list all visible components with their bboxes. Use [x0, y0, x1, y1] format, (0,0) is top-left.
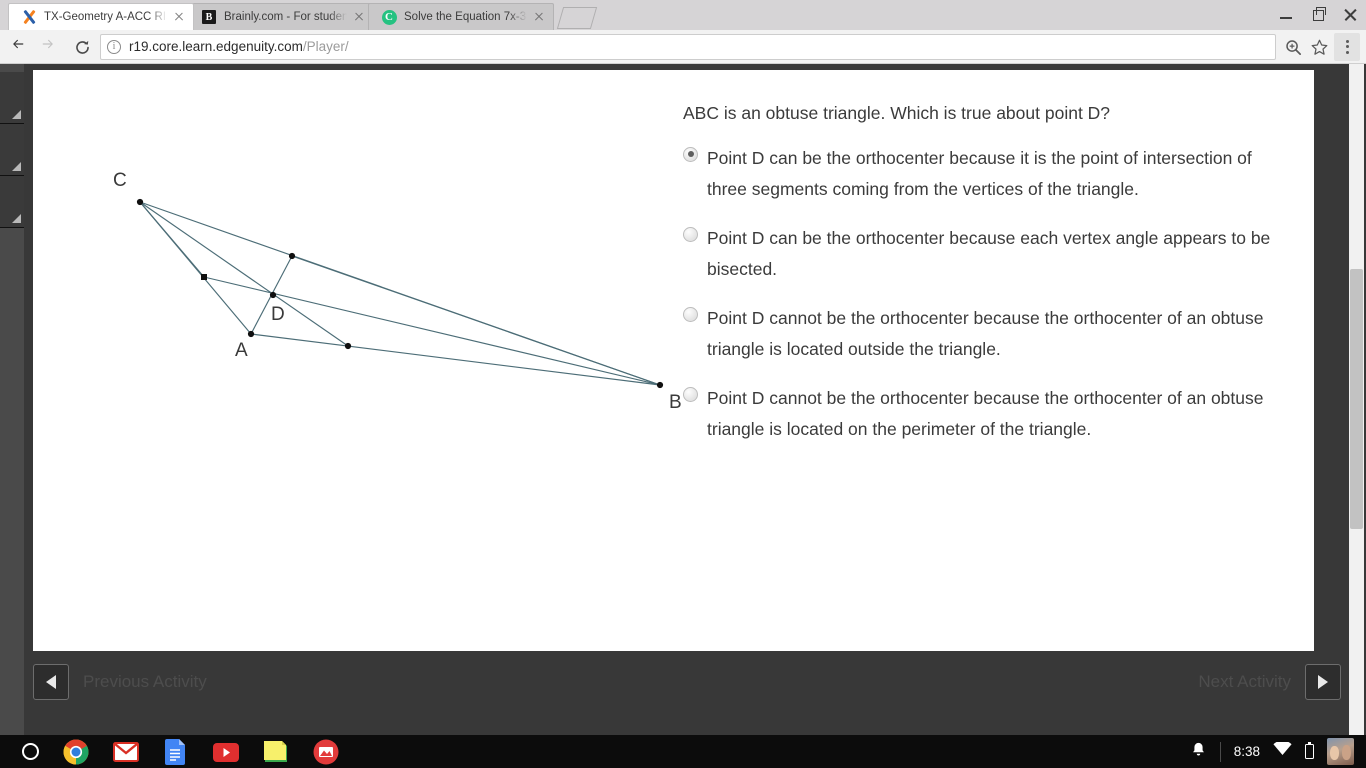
page-viewport: C A B D ABC is an obtuse triangle. Which…	[0, 64, 1366, 735]
address-bar[interactable]: i r19.core.learn.edgenuity.com/Player/	[100, 34, 1276, 60]
three-dot-menu-icon[interactable]	[1334, 33, 1360, 61]
photos-icon[interactable]	[313, 739, 339, 765]
google-docs-icon[interactable]	[163, 739, 189, 765]
window-controls	[1270, 0, 1366, 30]
midpoint-mark	[345, 343, 351, 349]
scrollbar-thumb[interactable]	[1350, 269, 1363, 529]
url-host: r19.core.learn.edgenuity.com	[129, 39, 303, 54]
bell-icon[interactable]	[1190, 741, 1207, 763]
shelf-divider	[1220, 742, 1221, 762]
answer-option-2[interactable]: Point D cannot be the orthocenter becaus…	[683, 303, 1280, 365]
battery-icon[interactable]	[1305, 744, 1314, 759]
vertex-point-c	[137, 199, 143, 205]
restore-icon[interactable]	[1302, 0, 1334, 30]
tab-title: Brainly.com - For studen	[224, 11, 347, 23]
answer-option-3[interactable]: Point D cannot be the orthocenter becaus…	[683, 383, 1280, 445]
google-keep-icon[interactable]	[263, 739, 289, 765]
interior-point-d	[270, 292, 276, 298]
vertex-point-b	[657, 382, 663, 388]
new-tab-button[interactable]	[557, 7, 597, 29]
question-pane: ABC is an obtuse triangle. Which is true…	[683, 90, 1314, 651]
figure-label-d: D	[271, 304, 285, 325]
back-arrow-icon[interactable]	[6, 32, 36, 62]
minimize-icon[interactable]	[1270, 0, 1302, 30]
tab-close-icon[interactable]	[531, 9, 547, 25]
answer-option-1[interactable]: Point D can be the orthocenter because e…	[683, 223, 1280, 285]
chegg-icon: C	[381, 9, 397, 25]
answer-option-label: Point D can be the orthocenter because e…	[707, 223, 1280, 285]
radio-button[interactable]	[683, 387, 698, 402]
answer-option-label: Point D can be the orthocenter because i…	[707, 143, 1280, 205]
brainly-icon: B	[201, 9, 217, 25]
activity-navigation: Previous Activity Next Activity	[33, 651, 1341, 713]
activity-stage: C A B D ABC is an obtuse triangle. Which…	[24, 64, 1366, 735]
rail-thumbnail[interactable]	[0, 176, 24, 228]
chrome-icon[interactable]	[63, 739, 89, 765]
answer-option-label: Point D cannot be the orthocenter becaus…	[707, 383, 1280, 445]
previous-activity-label: Previous Activity	[83, 672, 207, 692]
close-icon[interactable]	[1334, 0, 1366, 30]
tab-title: TX-Geometry A-ACC RISE	[44, 11, 167, 23]
shelf-apps	[12, 739, 339, 765]
url-path: /Player/	[303, 39, 349, 54]
page-scrollbar[interactable]	[1349, 64, 1364, 735]
youtube-icon[interactable]	[213, 739, 239, 765]
lesson-thumbnail-rail[interactable]	[0, 64, 24, 735]
tab-close-icon[interactable]	[171, 9, 187, 25]
radio-button[interactable]	[683, 307, 698, 322]
figure-label-a: A	[235, 340, 248, 361]
answer-option-0[interactable]: Point D can be the orthocenter because i…	[683, 143, 1280, 205]
triangle-figure: C A B D	[33, 90, 683, 651]
radio-button[interactable]	[683, 147, 698, 162]
next-activity-label: Next Activity	[1198, 672, 1291, 692]
clock[interactable]: 8:38	[1234, 744, 1260, 759]
previous-activity-group[interactable]: Previous Activity	[33, 664, 207, 700]
tab-close-icon[interactable]	[351, 9, 367, 25]
midpoint-mark	[289, 253, 295, 259]
star-icon[interactable]	[1306, 34, 1332, 60]
wifi-icon[interactable]	[1273, 742, 1292, 761]
tab-1[interactable]: B Brainly.com - For studen	[188, 3, 374, 30]
info-circle-icon[interactable]: i	[107, 40, 121, 54]
answer-option-label: Point D cannot be the orthocenter becaus…	[707, 303, 1280, 365]
forward-arrow-icon	[36, 32, 66, 62]
zoom-in-icon[interactable]	[1280, 34, 1306, 60]
launcher-circle-icon[interactable]	[22, 743, 39, 760]
browser-window: TX-Geometry A-ACC RISE B Brainly.com - F…	[0, 0, 1366, 735]
figure-label-c: C	[113, 170, 127, 191]
figure-label-b: B	[669, 392, 682, 413]
shelf-status-area[interactable]: 8:38	[1190, 738, 1354, 765]
gmail-icon[interactable]	[113, 739, 139, 765]
right-triangle-icon[interactable]	[1305, 664, 1341, 700]
square-mark	[201, 274, 207, 280]
radio-button[interactable]	[683, 227, 698, 242]
tab-2[interactable]: C Solve the Equation 7x-3=	[368, 3, 554, 30]
vertex-point-a	[248, 331, 254, 337]
rail-thumbnail[interactable]	[0, 72, 24, 124]
user-avatar[interactable]	[1327, 738, 1354, 765]
rail-thumbnail[interactable]	[0, 124, 24, 176]
question-card: C A B D ABC is an obtuse triangle. Which…	[33, 70, 1314, 651]
next-activity-group[interactable]: Next Activity	[1198, 664, 1341, 700]
question-prompt: ABC is an obtuse triangle. Which is true…	[683, 102, 1280, 125]
reload-icon[interactable]	[66, 32, 96, 62]
browser-toolbar: i r19.core.learn.edgenuity.com/Player/	[0, 30, 1366, 64]
edgenuity-icon	[21, 9, 37, 25]
tab-strip: TX-Geometry A-ACC RISE B Brainly.com - F…	[0, 0, 1366, 30]
tab-0[interactable]: TX-Geometry A-ACC RISE	[8, 3, 194, 30]
left-triangle-icon[interactable]	[33, 664, 69, 700]
system-shelf: 8:38	[0, 735, 1366, 768]
tab-title: Solve the Equation 7x-3=	[404, 11, 527, 23]
